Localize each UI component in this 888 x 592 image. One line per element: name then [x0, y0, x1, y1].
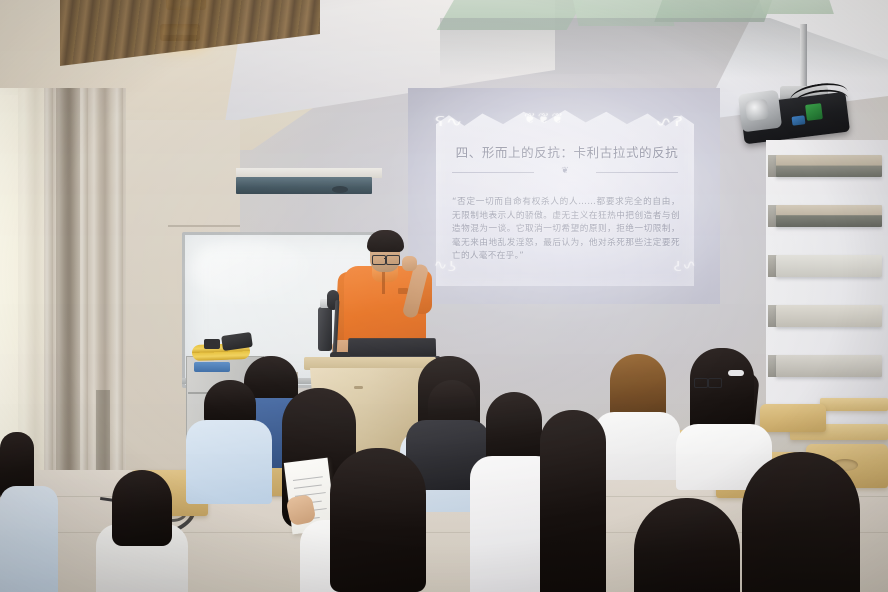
seated-student — [112, 470, 172, 546]
slide-body-text: “否定一切而自命有权杀人的人……都要求完全的自由，无限制地表示人的骄傲。虚无主义… — [452, 196, 680, 264]
hair-band — [728, 370, 744, 376]
student-glasses-icon — [708, 378, 722, 388]
wooden-desk — [820, 398, 888, 411]
lecturer-hand — [402, 256, 417, 271]
slide-divider-rule — [596, 172, 678, 173]
handout-text-line — [294, 484, 322, 488]
ornament-crest-icon: ❦❦❦ — [524, 112, 565, 126]
lectern-mark — [354, 386, 363, 389]
projector-lens-icon — [745, 99, 769, 122]
seated-student — [186, 420, 272, 504]
lecturer-glasses-icon — [386, 255, 400, 265]
wall-louver-slat — [776, 255, 882, 277]
wall-louver-slat — [776, 205, 882, 227]
blue-box — [194, 362, 230, 372]
wall-louver-slat — [776, 155, 882, 177]
projector-mount-pole — [800, 24, 807, 90]
right-wall — [766, 140, 888, 430]
ornament-flourish-icon: ʕ∿ — [655, 116, 683, 129]
wall-louver-slat — [776, 355, 882, 377]
slide-divider-ornament-icon: ❦ — [540, 166, 590, 176]
wall-seam — [168, 225, 240, 227]
whiteboard-glare — [190, 240, 310, 300]
seated-student — [634, 498, 740, 592]
black-device — [204, 339, 220, 349]
lecturer-placket — [382, 272, 385, 294]
seated-student — [540, 410, 606, 592]
lecturer-glasses-icon — [372, 255, 386, 265]
slide-title: 四、形而上的反抗：卡利古拉式的反抗 — [440, 142, 694, 161]
ornament-flourish-icon: ʕ∿ — [435, 116, 463, 129]
projector-port — [792, 115, 806, 126]
seated-student — [742, 452, 860, 592]
seated-student — [0, 486, 58, 592]
screen-pull-knob[interactable] — [332, 186, 348, 193]
lecturer-glasses-bridge — [384, 258, 387, 259]
lecturer-hair — [367, 230, 404, 252]
seated-student — [330, 448, 426, 592]
projector-indicator — [805, 103, 823, 121]
slide-divider-rule — [452, 172, 534, 173]
handout-text-line — [293, 476, 323, 481]
water-bottle — [318, 307, 332, 351]
wooden-seat — [760, 404, 826, 432]
acoustic-ceiling-panel — [756, 0, 834, 14]
wall-louver-slat — [776, 305, 882, 327]
student-glasses-icon — [694, 378, 708, 388]
projection-screen-housing — [236, 177, 372, 194]
classroom-photo: ʕ∿ ❦❦❦ ʕ∿ ʕ∿ ʕ∿ 四、形而上的反抗：卡利古拉式的反抗 ❦ “否定一… — [0, 0, 888, 592]
seated-student — [594, 412, 680, 480]
